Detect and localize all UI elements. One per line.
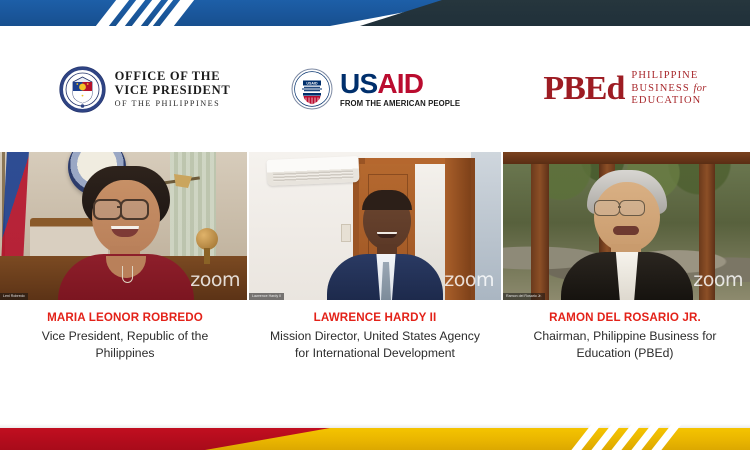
logo-row: OFFICE OF THE VICE PRESIDENT OF THE PHIL… — [0, 30, 750, 148]
pbed-logo: PBEd PHILIPPINE BUSINESS for EDUCATION — [500, 70, 750, 108]
caption-hardy: LAWRENCE HARDY II Mission Director, Unit… — [250, 310, 500, 388]
caption-name: RAMON DEL ROSARIO JR. — [512, 310, 738, 326]
ovp-line-3: OF THE PHILIPPINES — [115, 97, 231, 110]
pbed-sub-line-2: BUSINESS for — [631, 83, 706, 96]
pbed-sub-for: for — [694, 83, 707, 94]
pbed-sub-line-3: EDUCATION — [631, 95, 706, 108]
caption-role: Mission Director, United States Agency f… — [262, 328, 488, 361]
pbed-sub-business: BUSINESS — [631, 83, 689, 94]
zoom-watermark: zoom — [444, 271, 494, 290]
ovp-line-2: VICE PRESIDENT — [115, 83, 231, 97]
usaid-logo-text: USAID FROM THE AMERICAN PEOPLE — [340, 70, 464, 109]
usaid-word-aid: AID — [377, 68, 423, 99]
video-name-tag: Lawrence Hardy II — [249, 293, 284, 300]
caption-role: Chairman, Philippine Business for Educat… — [512, 328, 738, 361]
usaid-seal-icon: USAID — [291, 68, 333, 110]
video-tile-hardy[interactable]: Lawrence Hardy II zoom — [249, 152, 501, 300]
pbed-wordmark: PBEd — [543, 72, 624, 106]
video-tile-del-rosario[interactable]: Ramon del Rosario Jr. zoom — [503, 152, 750, 300]
ovp-line-1: OFFICE OF THE — [115, 69, 231, 83]
caption-name: LAWRENCE HARDY II — [262, 310, 488, 326]
participant-figure-hardy — [327, 192, 443, 300]
video-name-tag: Leni Robredo — [0, 293, 28, 300]
svg-text:USAID: USAID — [306, 82, 318, 86]
pbed-sub-line-1: PHILIPPINE — [631, 70, 706, 83]
bottom-banner — [0, 424, 750, 450]
pbed-subtext: PHILIPPINE BUSINESS for EDUCATION — [631, 70, 706, 108]
caption-role: Vice President, Republic of the Philippi… — [12, 328, 238, 361]
video-tile-robredo[interactable]: Leni Robredo zoom — [0, 152, 247, 300]
zoom-watermark: zoom — [693, 271, 743, 290]
caption-del-rosario: RAMON DEL ROSARIO JR. Chairman, Philippi… — [500, 310, 750, 388]
participant-figure-del-rosario — [561, 170, 693, 300]
video-name-tag: Ramon del Rosario Jr. — [503, 293, 545, 300]
ovp-logo-text: OFFICE OF THE VICE PRESIDENT OF THE PHIL… — [115, 69, 231, 110]
usaid-word-us: US — [340, 68, 377, 99]
usaid-wordmark: USAID — [340, 70, 464, 98]
bottom-banner-stripes — [580, 428, 720, 450]
video-conference-strip: Leni Robredo zoom Lawrence Hardy II zoom — [0, 152, 750, 300]
participant-figure-robredo — [52, 166, 200, 300]
caption-name: MARIA LEONOR ROBREDO — [12, 310, 238, 326]
zoom-watermark: zoom — [190, 271, 240, 290]
usaid-logo: USAID USAID FROM THE AMERICAN PEOPLE — [255, 68, 500, 110]
caption-row: MARIA LEONOR ROBREDO Vice President, Rep… — [0, 310, 750, 388]
philippine-ovp-seal-icon — [59, 66, 106, 113]
caption-robredo: MARIA LEONOR ROBREDO Vice President, Rep… — [0, 310, 250, 388]
ovp-logo: OFFICE OF THE VICE PRESIDENT OF THE PHIL… — [0, 66, 255, 113]
usaid-tagline: FROM THE AMERICAN PEOPLE — [340, 98, 460, 109]
top-banner — [0, 0, 750, 26]
top-banner-stripes — [100, 0, 220, 26]
